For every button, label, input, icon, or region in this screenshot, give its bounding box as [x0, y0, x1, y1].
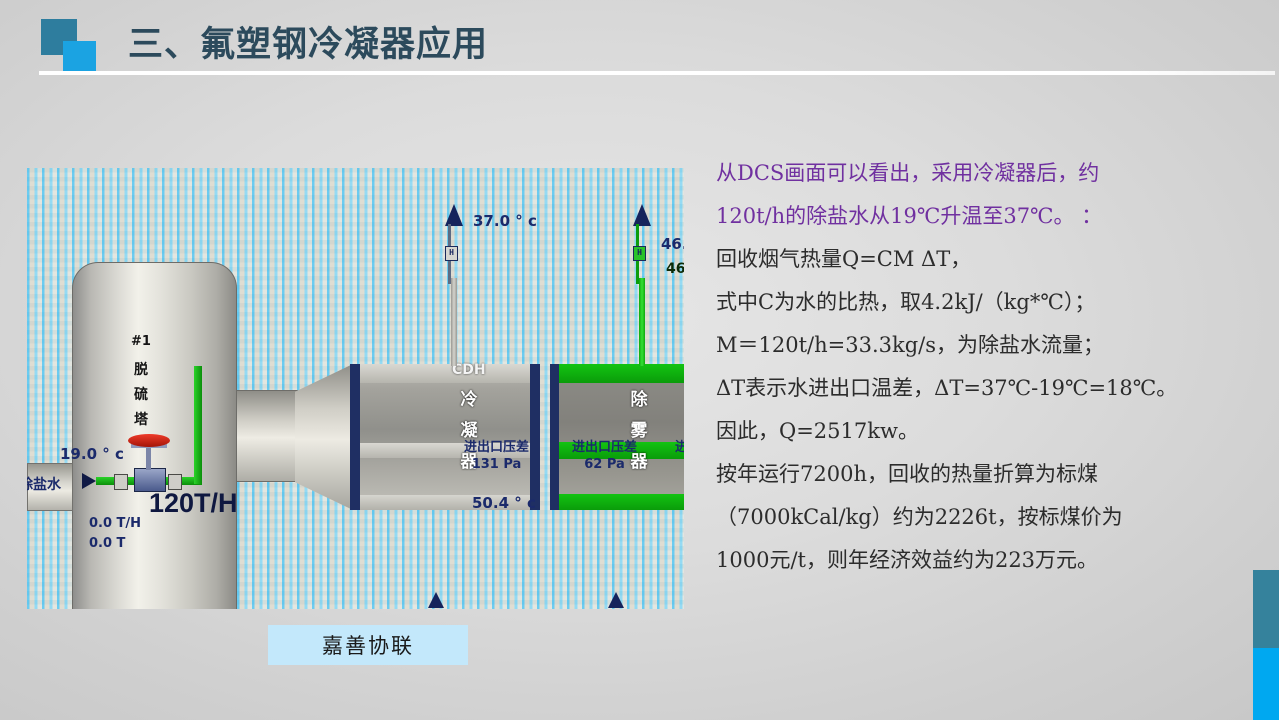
dcs-screenshot-image: #1 脱硫塔 CDH 冷凝器 除雾器 H H 37.0 ° c 46.2 ° c… [27, 168, 684, 609]
duct-expansion-cone [295, 364, 353, 510]
water-flow-overlay-value: 120T/H [149, 488, 238, 519]
hand-indicator-left: H [445, 246, 458, 261]
pressure-1-label: 进出口压差 [464, 436, 529, 455]
control-valve-stem [146, 446, 151, 470]
body-text-line-3: 回收烟气热量Q=CM ΔT， [716, 238, 1236, 281]
tower-number-label: #1 [123, 334, 159, 349]
body-text-line-9: （7000kCal/kg）约为2226t，按标煤价为 [716, 496, 1236, 539]
right-accent-bar [1253, 570, 1279, 720]
pipe-flange-left [114, 474, 128, 490]
bottom-arrow-left-icon [428, 592, 444, 608]
body-text-line-2: 120t/h的除盐水从19℃升温至37℃。 ： [716, 195, 1236, 238]
image-caption-box: 嘉善协联 [268, 625, 468, 665]
pressure-3-label: 进 [675, 436, 684, 455]
condenser-band-top [360, 364, 530, 383]
body-text-line-4: 式中C为水的比热，取4.2kJ/（kg*℃）； [716, 281, 1236, 324]
accent-bar-top [1253, 570, 1279, 648]
pressure-differential-3: 进 [675, 436, 684, 455]
temp-right-top-value: 46.2 ° c [661, 235, 684, 253]
water-flow-arrow-icon [82, 473, 96, 489]
pressure-1-value: 131 Pa [464, 457, 529, 472]
page-title: 三、氟塑钢冷凝器应用 [128, 16, 488, 67]
temp-condenser-bottom-value: 50.4 ° c [472, 494, 536, 512]
temp-right-band-value: 46.2 [666, 261, 684, 277]
accent-bar-bottom [1253, 648, 1279, 720]
pressure-differential-1: 进出口压差 131 Pa [464, 436, 529, 472]
temp-water-inlet-value: 19.0 ° c [60, 445, 124, 463]
water-riser-pipe [194, 366, 202, 484]
water-flow-total-value: 0.0 T [89, 536, 125, 551]
body-text-line-6: ΔT表示水进出口温差，ΔT=37℃-19℃=18℃。 [716, 367, 1236, 410]
tower-name-label: 脱硫塔 [123, 358, 159, 433]
condenser-outlet-stack [451, 278, 457, 366]
cdh-label: CDH [452, 362, 486, 378]
gas-flow-arrow-right-icon [633, 204, 651, 226]
hand-indicator-right: H [633, 246, 646, 261]
demineralized-water-label: 除盐水 [27, 474, 61, 494]
pressure-2-value: 62 Pa [572, 457, 637, 472]
body-text-line-5: M＝120t/h=33.3kg/s，为除盐水流量； [716, 324, 1236, 367]
demister-band-bottom [559, 494, 684, 510]
body-text-line-7: 因此，Q=2517kw。 [716, 410, 1236, 453]
water-flow-rate-value: 0.0 T/H [89, 516, 141, 531]
pressure-2-label: 进出口压差 [572, 436, 637, 455]
slide-title-bar: 三、氟塑钢冷凝器应用 [0, 0, 1279, 90]
body-text-block: 从DCS画面可以看出，采用冷凝器后，约120t/h的除盐水从19℃升温至37℃。… [716, 152, 1236, 582]
gas-flow-arrow-left-icon [445, 204, 463, 226]
control-valve-actuator-icon [128, 434, 170, 447]
demister-band-top [559, 364, 684, 383]
body-text-line-10: 1000元/t，则年经济效益约为223万元。 [716, 539, 1236, 582]
body-text-line-8: 按年运行7200h，回收的热量折算为标煤 [716, 453, 1236, 496]
image-caption-text: 嘉善协联 [322, 630, 414, 660]
pressure-differential-2: 进出口压差 62 Pa [572, 436, 637, 472]
temp-outlet-top-value: 37.0 ° c [473, 212, 537, 230]
body-text-line-1: 从DCS画面可以看出，采用冷凝器后，约 [716, 152, 1236, 195]
bottom-arrow-right-icon [608, 592, 624, 608]
title-divider [39, 71, 1275, 75]
demister-outlet-stack [639, 278, 645, 366]
tower-outlet-duct [236, 390, 298, 482]
decor-square-blue-icon [63, 41, 96, 74]
